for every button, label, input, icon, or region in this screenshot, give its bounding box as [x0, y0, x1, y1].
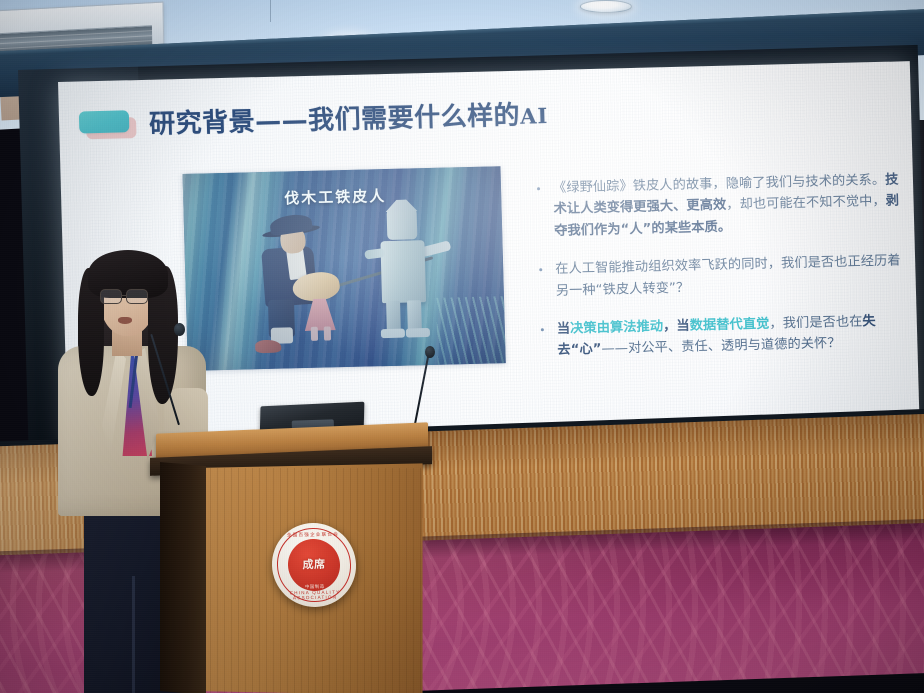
presenter-mouth: [118, 317, 132, 324]
lectern-emblem: 全国百强企业联合会 成席 中国制造 CHINA QUALITY ASSOCIAT…: [271, 522, 358, 607]
slide-title-ai: AI: [520, 103, 549, 129]
presenter-glasses-bridge: [122, 295, 127, 296]
microphone-capsule: [174, 323, 185, 336]
chip-teal-block: [79, 110, 130, 133]
bullet-segment: 《绿野仙踪》铁皮人的故事，隐喻了我们与技术的关系。: [553, 173, 885, 196]
bullet-item: 《绿野仙踪》铁皮人的故事，隐喻了我们与技术的关系。技术让人类变得更强大、更高效，…: [531, 169, 901, 242]
bullet-item: 在人工智能推动组织效率飞跃的同时，我们是否也正经历着另一种“铁皮人转变”？: [533, 251, 902, 303]
emblem-arc-text-top: 全国百强企业联合会: [271, 531, 355, 538]
bullet-segment: 在人工智能推动组织效率飞跃的同时，我们是否也正经历着另一种“铁皮人转变”？: [555, 254, 901, 299]
emblem-center-text: 成席: [272, 558, 356, 571]
bullet-segment: ，我们是否也在: [769, 314, 862, 331]
slide-title-row: 研究背景——我们需要什么样的AI: [79, 94, 549, 142]
bullet-segment: ——对公平、责任、透明与道德的关怀？: [601, 336, 841, 357]
ceiling-hanging-wire: [270, 0, 271, 22]
slide-title-main: 研究背景——我们需要什么样的: [149, 101, 521, 140]
emblem-arc-text-bottom: CHINA QUALITY ASSOCIATION: [273, 589, 357, 600]
bullet-segment-highlight: 数据替代直觉: [690, 317, 770, 334]
bullet-segment-bold: 当: [557, 321, 571, 336]
bullet-item: 当决策由算法推动，当数据替代直觉，我们是否也在失去“心”——对公平、责任、透明与…: [535, 310, 904, 362]
presenter-glasses-left-lens: [100, 289, 122, 304]
title-accent-chip: [79, 110, 136, 136]
bullet-segment-highlight: 决策由算法推动: [570, 319, 663, 336]
presenter-trouser-seam: [132, 576, 135, 693]
bullet-segment-bold: ，当: [663, 319, 690, 335]
lectern-side-panel: [160, 462, 206, 693]
slide-title: 研究背景——我们需要什么样的AI: [149, 94, 549, 141]
microphone-capsule: [425, 346, 435, 358]
presenter-glasses-right-lens: [126, 289, 148, 304]
tin-woodman-illustration: 伐木工铁皮人: [183, 166, 506, 371]
presentation-scene: 研究背景——我们需要什么样的AI: [0, 0, 924, 693]
bullet-segment: ，却也可能在不知不觉中，: [726, 194, 886, 213]
ceiling-downlight: [580, 0, 632, 13]
slide-bullet-list: 《绿野仙踪》铁皮人的故事，隐喻了我们与技术的关系。技术让人类变得更强大、更高效，…: [531, 169, 904, 379]
